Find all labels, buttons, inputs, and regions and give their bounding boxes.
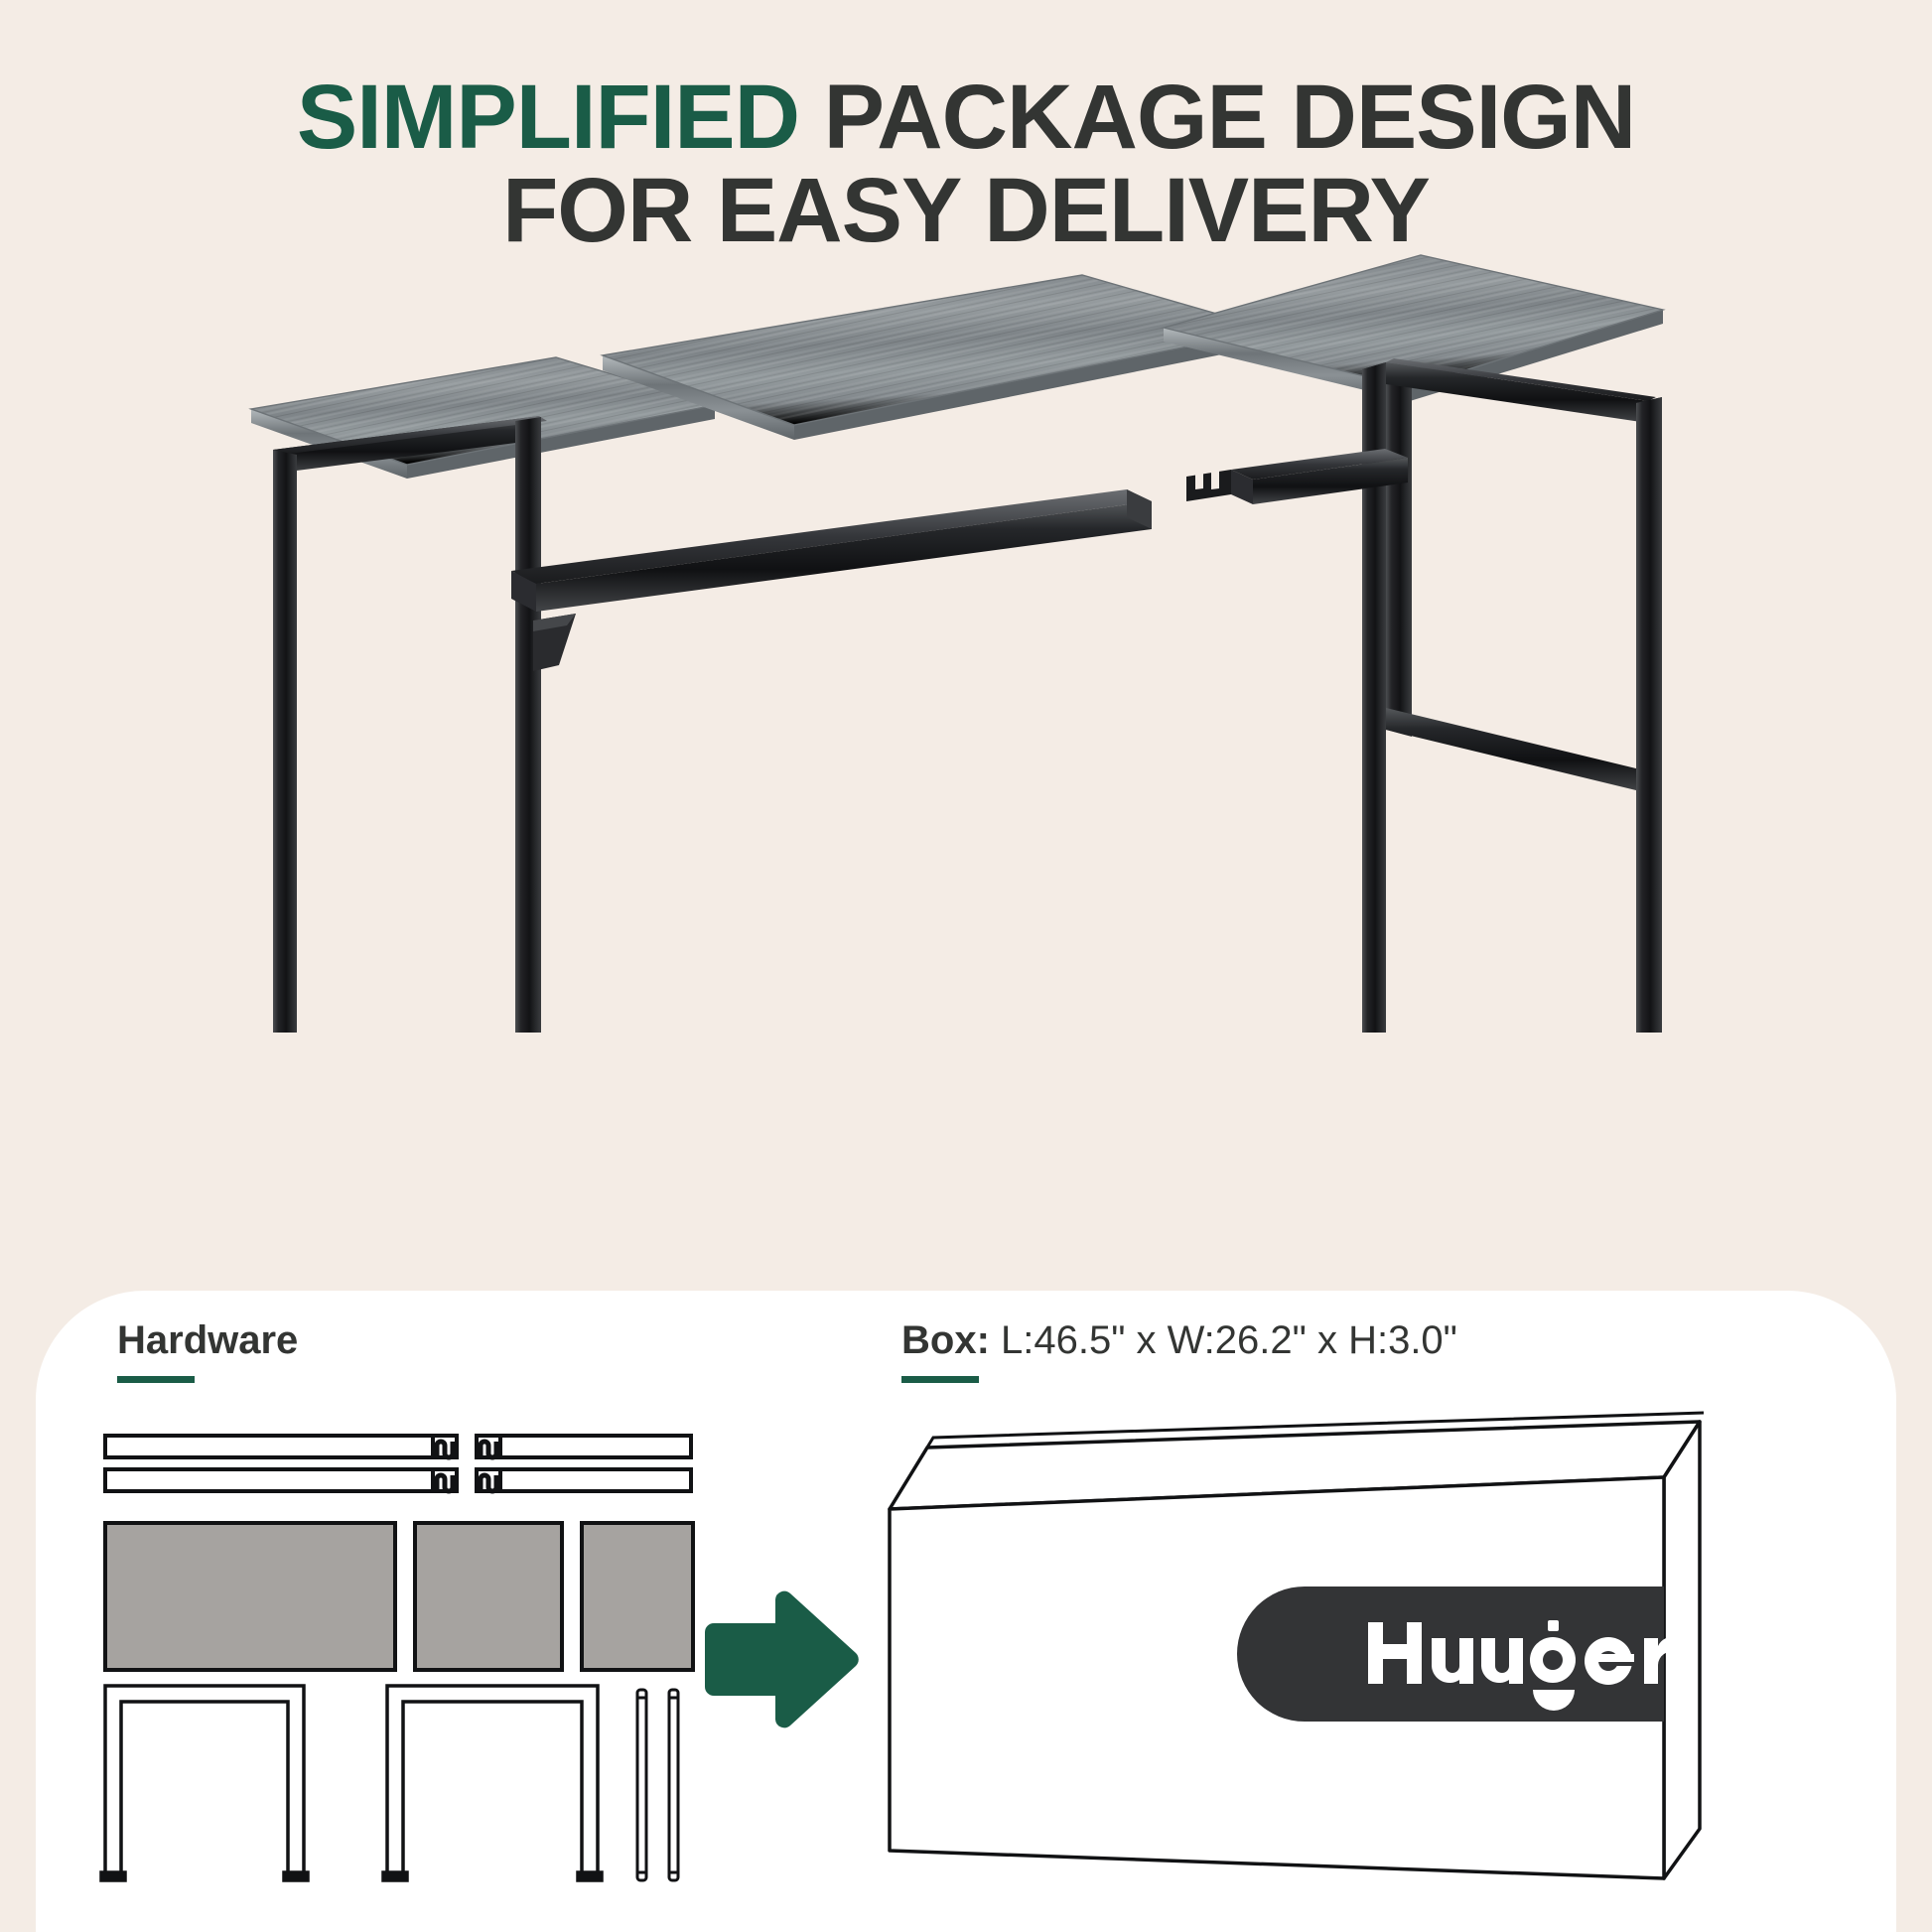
medium-panel	[415, 1523, 562, 1670]
packaging-card: Hardware Box: L:46.5" x W:26.2" x H:3.0"	[36, 1291, 1896, 1932]
large-panel	[105, 1523, 395, 1670]
short-rail-1	[477, 1436, 691, 1457]
headline-line1-dark: PACKAGE DESIGN	[799, 67, 1635, 168]
long-side-rail	[511, 489, 1152, 612]
leg-frame-1	[101, 1686, 308, 1880]
box-dimensions: L:46.5" x W:26.2" x H:3.0"	[1001, 1318, 1457, 1362]
hardware-title-underline	[117, 1376, 195, 1383]
product-illustration	[0, 228, 1932, 1033]
left-leg-frame	[268, 416, 547, 1033]
long-rail-1	[105, 1436, 457, 1457]
corner-bracket	[533, 614, 576, 671]
hardware-section-title: Hardware	[117, 1318, 298, 1363]
box-section-title: Box: L:46.5" x W:26.2" x H:3.0"	[901, 1318, 1457, 1363]
long-rail-2	[105, 1469, 457, 1491]
leg-frame-2	[383, 1686, 602, 1880]
desk-exploded-view	[0, 228, 1932, 1033]
short-rail-2	[477, 1469, 691, 1491]
rod-2	[669, 1690, 678, 1880]
rod-1	[637, 1690, 646, 1880]
box-label: Box:	[901, 1318, 990, 1362]
headline-line1-green: SIMPLIFIED	[297, 67, 799, 168]
box-title-underline	[901, 1376, 979, 1383]
small-panel	[582, 1523, 693, 1670]
hardware-parts-diagram	[95, 1430, 701, 1896]
shipping-box-illustration	[860, 1400, 1813, 1916]
